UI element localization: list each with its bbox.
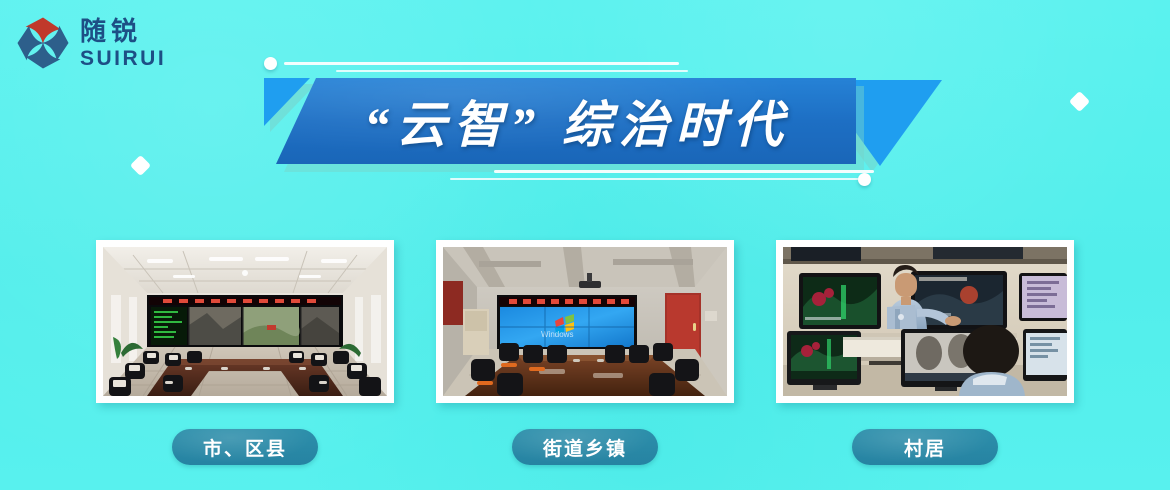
page-title: “云智” 综治时代	[276, 78, 856, 164]
diamond-decoration-icon-right	[1069, 91, 1090, 112]
card-city-district[interactable]: 市、区县	[96, 240, 394, 465]
card-label-village[interactable]: 村居	[852, 429, 998, 465]
card-village[interactable]: 村居	[776, 240, 1074, 465]
svg-text:Windows: Windows	[541, 330, 573, 339]
photo-frame	[96, 240, 394, 403]
photo-frame: Windows	[436, 240, 734, 403]
photo-frame	[776, 240, 1074, 403]
brand-name-en: SUIRUI	[80, 48, 166, 69]
card-street-township[interactable]: Windows	[436, 240, 734, 465]
banner-rule-bottom-1	[494, 170, 874, 173]
banner-rule-top-2	[336, 70, 688, 72]
card-label-row: 街道乡镇	[436, 429, 734, 465]
card-label-street-township[interactable]: 街道乡镇	[512, 429, 658, 465]
brand-name-cn: 随锐	[80, 18, 166, 44]
title-banner: “云智” 综治时代	[258, 52, 948, 192]
circle-dot-icon	[264, 57, 277, 70]
photo-village-monitoring-room	[783, 247, 1067, 396]
banner-rule-top-1	[284, 62, 679, 65]
card-label-row: 市、区县	[96, 429, 394, 465]
diamond-decoration-icon-left	[130, 155, 151, 176]
photo-township-meeting-room: Windows	[443, 247, 727, 396]
card-row: 市、区县	[0, 240, 1170, 465]
photo-city-command-room	[103, 247, 387, 396]
suirui-pinwheel-logo-icon	[14, 14, 72, 72]
brand-logo: 随锐 SUIRUI	[14, 14, 166, 72]
card-label-city-district[interactable]: 市、区县	[172, 429, 318, 465]
brand-wordmark: 随锐 SUIRUI	[80, 18, 166, 69]
slide-canvas: 随锐 SUIRUI “云智” 综治时代	[0, 0, 1170, 490]
circle-dot-icon-2	[858, 173, 871, 186]
card-label-row: 村居	[776, 429, 1074, 465]
banner-rule-bottom-2	[450, 178, 865, 180]
